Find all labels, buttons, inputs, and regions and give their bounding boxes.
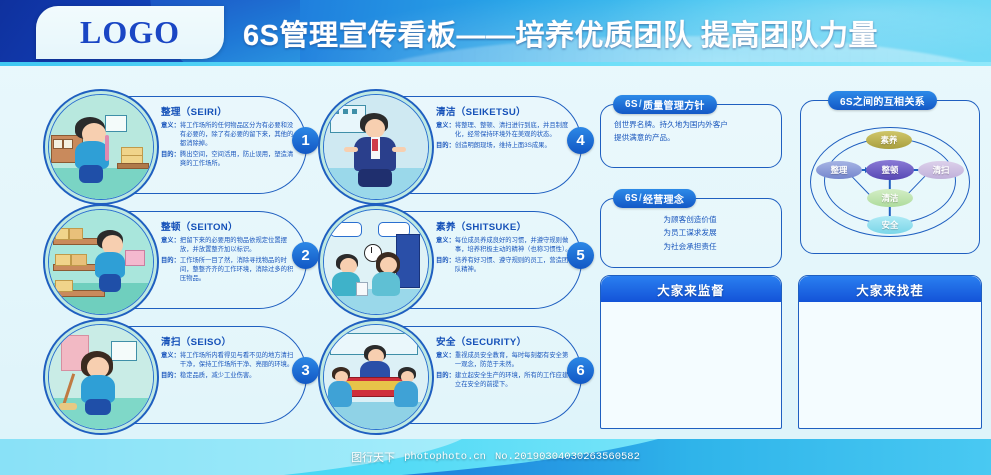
purpose-label-3: 目的：	[161, 371, 180, 380]
meaning-text-5: 每位成员养成良好的习惯，并遵守规则做事，培养积极主动的精神（也称习惯性）。	[455, 236, 574, 254]
footer-site-en: photophoto.cn	[404, 451, 486, 463]
quality-policy-tab-name: 质量管理方针	[643, 97, 705, 112]
meaning-text-1: 将工作场所的任何物品区分为有必要和没有必要的，除了有必要的留下来，其他的都消除掉…	[180, 121, 299, 148]
s-card-2[interactable]: 2 整顿（SEITON） 意义： 把留下来的必要用的物品依规定位置摆放，并放置整…	[50, 211, 307, 309]
find-faults-board-title: 大家来找茬	[799, 276, 981, 302]
footer-banner: 图行天下 photophoto.cn No.201903040302635605…	[0, 439, 991, 475]
purpose-label-1: 目的：	[161, 150, 180, 168]
quality-policy-line-2: 提供满意的产品。	[614, 131, 772, 144]
meaning-label-3: 意义：	[161, 351, 180, 369]
card-illustration-1	[43, 89, 159, 205]
s-card-3[interactable]: 3 清扫（SEISO） 意义： 将工作场所内看得见与看不见的地方清扫干净，保持工…	[50, 326, 307, 424]
purpose-text-6: 建立起安全生产的环境，所有的工作应建立在安全的前提下。	[455, 371, 574, 389]
supervise-board-title: 大家来监督	[601, 276, 781, 302]
logo-plate: LOGO	[36, 6, 224, 59]
page-title: 6S管理宣传看板——培养优质团队 提高团队力量	[243, 9, 991, 57]
meaning-label-4: 意义：	[436, 121, 455, 139]
card-purpose-4: 目的： 创造明朗现场，维持上面3S成果。	[436, 141, 574, 150]
card-meaning-1: 意义： 将工作场所的任何物品区分为有必要和没有必要的，除了有必要的留下来，其他的…	[161, 121, 299, 148]
meaning-text-4: 将整理、整顿、清扫进行到底，并且制度化，经常保持环境外在美观的状态。	[455, 121, 574, 139]
find-faults-board[interactable]: 大家来找茬	[798, 275, 982, 429]
card-purpose-6: 目的： 建立起安全生产的环境，所有的工作应建立在安全的前提下。	[436, 371, 574, 389]
purpose-text-1: 腾出空间，空间活用，防止误用，塑造清爽的工作场所。	[180, 150, 299, 168]
meaning-label-6: 意义：	[436, 351, 455, 369]
diagram-node-zhengli[interactable]: 整理	[816, 161, 862, 179]
business-philosophy-tab-prefix: 6S	[625, 193, 638, 204]
business-philosophy-tab: 6S / 经营理念	[613, 189, 696, 208]
card-illustration-4	[318, 89, 434, 205]
business-philosophy-tab-name: 经营理念	[643, 191, 684, 206]
purpose-label-6: 目的：	[436, 371, 455, 389]
supervise-board[interactable]: 大家来监督	[600, 275, 782, 429]
diagram-node-anquan[interactable]: 安全	[867, 216, 913, 234]
purpose-label-4: 目的：	[436, 141, 455, 150]
card-meaning-4: 意义： 将整理、整顿、清扫进行到底，并且制度化，经常保持环境外在美观的状态。	[436, 121, 574, 139]
header-banner: LOGO 6S管理宣传看板——培养优质团队 提高团队力量	[0, 0, 991, 66]
purpose-text-2: 工作场所一目了然，消除寻找物品的时间，整整齐齐的工作环境，消除过多的积压物品。	[180, 256, 299, 283]
card-title-5: 素养（SHITSUKE）	[436, 219, 574, 233]
purpose-text-4: 创造明朗现场，维持上面3S成果。	[455, 141, 574, 150]
card-title-3: 清扫（SEISO）	[161, 334, 299, 348]
purpose-text-5: 培养有好习惯、遵守规则的员工，营造团队精神。	[455, 256, 574, 274]
quality-policy-body: 创世界名牌。持久地为国内外客户 提供满意的产品。	[614, 118, 772, 145]
card-purpose-3: 目的： 稳定品质，减少工业伤害。	[161, 371, 299, 380]
business-philosophy-body: 为顾客创造价值 为员工谋求发展 为社会承担责任	[610, 213, 770, 253]
quality-policy-tab: 6S / 质量管理方针	[613, 95, 717, 114]
business-philosophy-line-2: 为员工谋求发展	[610, 226, 770, 239]
purpose-label-2: 目的：	[161, 256, 180, 283]
s-card-4[interactable]: 4 清洁（SEIKETSU） 意义： 将整理、整顿、清扫进行到底，并且制度化，经…	[325, 96, 582, 194]
card-title-4: 清洁（SEIKETSU）	[436, 104, 574, 118]
card-meaning-3: 意义： 将工作场所内看得见与看不见的地方清扫干净，保持工作场所干净、亮丽的环境。	[161, 351, 299, 369]
purpose-label-5: 目的：	[436, 256, 455, 274]
relationship-diagram: 素养 整理 整顿 清扫 清洁 安全	[800, 100, 978, 252]
logo-text: LOGO	[36, 6, 224, 59]
quality-policy-tab-slash: /	[639, 99, 642, 110]
card-title-6: 安全（SECURITY）	[436, 334, 574, 348]
meaning-label-2: 意义：	[161, 236, 180, 254]
header-underline	[0, 62, 991, 66]
card-title-2: 整顿（SEITON）	[161, 219, 299, 233]
card-illustration-2	[43, 204, 159, 320]
business-philosophy-line-1: 为顾客创造价值	[610, 213, 770, 226]
card-illustration-5	[318, 204, 434, 320]
footer-image-no: No.20190304030263560582	[495, 451, 640, 463]
diagram-node-qingjie[interactable]: 清洁	[867, 189, 913, 207]
card-meaning-5: 意义： 每位成员养成良好的习惯，并遵守规则做事，培养积极主动的精神（也称习惯性）…	[436, 236, 574, 254]
card-purpose-1: 目的： 腾出空间，空间活用，防止误用，塑造清爽的工作场所。	[161, 150, 299, 168]
purpose-text-3: 稳定品质，减少工业伤害。	[180, 371, 299, 380]
card-title-1: 整理（SEIRI）	[161, 104, 299, 118]
card-illustration-6	[318, 319, 434, 435]
card-illustration-3	[43, 319, 159, 435]
quality-policy-tab-prefix: 6S	[625, 99, 638, 110]
footer-watermark: 图行天下 photophoto.cn No.201903040302635605…	[0, 439, 991, 475]
meaning-text-3: 将工作场所内看得见与看不见的地方清扫干净，保持工作场所干净、亮丽的环境。	[180, 351, 299, 369]
s-card-1[interactable]: 1 整理（SEIRI） 意义： 将工作场所的任何物品区分为有必要和没有必要的，除…	[50, 96, 307, 194]
diagram-node-qingsao[interactable]: 清扫	[918, 161, 964, 179]
quality-policy-line-1: 创世界名牌。持久地为国内外客户	[614, 118, 772, 131]
business-philosophy-line-3: 为社会承担责任	[610, 240, 770, 253]
card-meaning-2: 意义： 把留下来的必要用的物品依规定位置摆放，并放置整齐加以标识。	[161, 236, 299, 254]
diagram-node-suyang[interactable]: 素养	[866, 131, 912, 149]
footer-site-cn: 图行天下	[351, 449, 395, 465]
s-card-5[interactable]: 5 素养（SHITSUKE） 意义： 每位成员养成良好的习惯，并遵守规则做事，培…	[325, 211, 582, 309]
meaning-label-1: 意义：	[161, 121, 180, 148]
s-card-6[interactable]: 6 安全（SECURITY） 意义： 重视成员安全教育，每时每刻都有安全第一观念…	[325, 326, 582, 424]
diagram-node-zhengdun[interactable]: 整顿	[866, 160, 914, 180]
card-purpose-5: 目的： 培养有好习惯、遵守规则的员工，营造团队精神。	[436, 256, 574, 274]
meaning-text-6: 重视成员安全教育，每时每刻都有安全第一观念，防范于未然。	[455, 351, 574, 369]
card-meaning-6: 意义： 重视成员安全教育，每时每刻都有安全第一观念，防范于未然。	[436, 351, 574, 369]
card-purpose-2: 目的： 工作场所一目了然，消除寻找物品的时间，整整齐齐的工作环境，消除过多的积压…	[161, 256, 299, 283]
business-philosophy-tab-slash: /	[639, 193, 642, 204]
poster-board: LOGO 6S管理宣传看板——培养优质团队 提高团队力量	[0, 0, 991, 475]
meaning-text-2: 把留下来的必要用的物品依规定位置摆放，并放置整齐加以标识。	[180, 236, 299, 254]
meaning-label-5: 意义：	[436, 236, 455, 254]
